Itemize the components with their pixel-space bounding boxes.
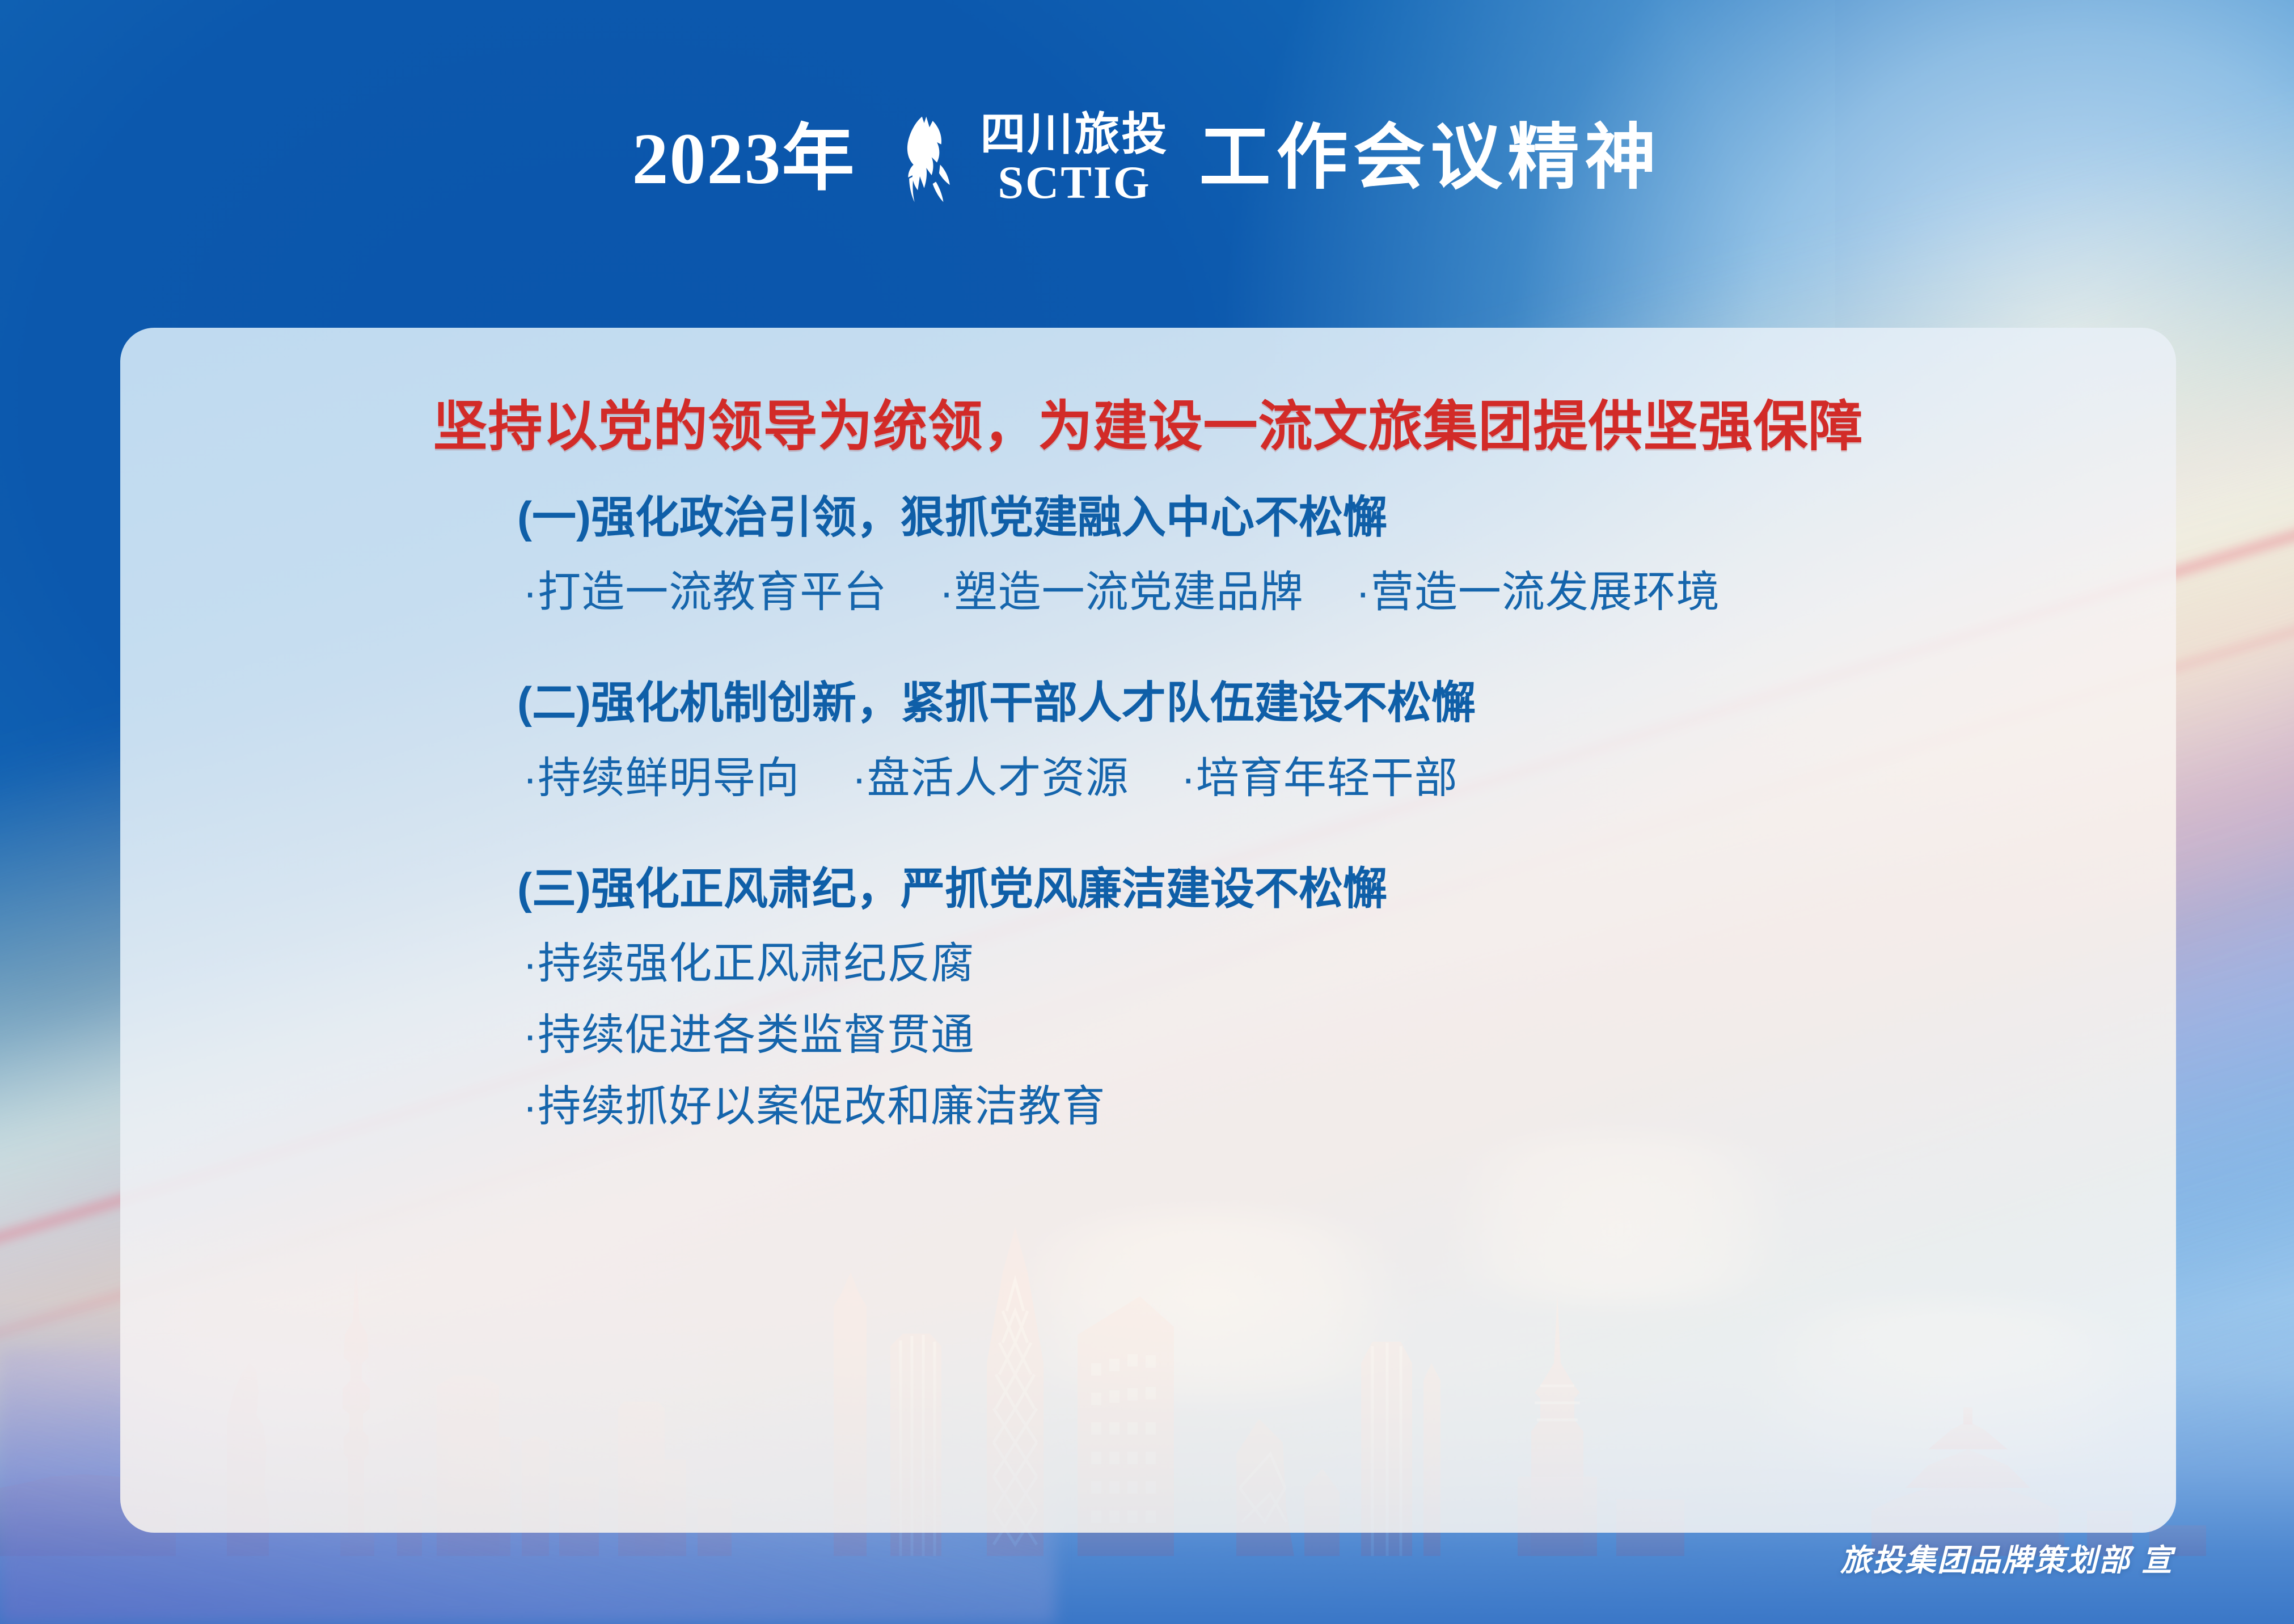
list-item: ·持续抓好以案促改和廉洁教育 [523, 1076, 2176, 1137]
section-three: (三)强化正风肃纪，严抓党风廉洁建设不松懈 ·持续强化正风肃纪反腐 ·持续促进各… [120, 864, 2176, 1137]
content-card-inner: 坚持以党的领导为统领，为建设一流文旅集团提供坚强保障 (一)强化政治引领，狠抓党… [120, 328, 2176, 1533]
list-item: ·盘活人才资源 [852, 748, 1129, 809]
list-item: ·塑造一流党建品牌 [939, 562, 1303, 623]
list-item: ·持续促进各类监督贯通 [523, 1005, 2176, 1066]
list-item: ·持续鲜明导向 [523, 748, 800, 809]
section-one-heading: (一)强化政治引领，狠抓党建融入中心不松懈 [517, 492, 2176, 543]
brand-name-cn: 四川旅投 [981, 112, 1169, 157]
sctig-horse-logo-icon [886, 113, 971, 204]
section-three-heading: (三)强化正风肃纪，严抓党风廉洁建设不松懈 [517, 864, 2176, 915]
sections-list: (一)强化政治引领，狠抓党建融入中心不松懈 ·打造一流教育平台 ·塑造一流党建品… [120, 492, 2176, 1138]
poster-root: 2023年 四川旅投 SCTIG 工作会议精神 坚持以党的领导为统领，为建设一流… [0, 0, 2294, 1624]
poster-header: 2023年 四川旅投 SCTIG 工作会议精神 [0, 0, 2294, 318]
section-one: (一)强化政治引领，狠抓党建融入中心不松懈 ·打造一流教育平台 ·塑造一流党建品… [120, 492, 2176, 624]
list-item: ·培育年轻干部 [1181, 748, 1458, 809]
footer-credit: 旅投集团品牌策划部 宣 [1840, 1535, 2174, 1580]
section-two: (二)强化机制创新，紧抓干部人才队伍建设不松懈 ·持续鲜明导向 ·盘活人才资源 … [120, 678, 2176, 809]
section-two-heading: (二)强化机制创新，紧抓干部人才队伍建设不松懈 [517, 678, 2176, 729]
header-year: 2023年 [632, 122, 856, 195]
section-three-bullets: ·持续强化正风肃纪反腐 ·持续促进各类监督贯通 ·持续抓好以案促改和廉洁教育 [523, 933, 2176, 1137]
list-item: ·营造一流发展环境 [1356, 562, 1720, 623]
header-title: 工作会议精神 [1199, 123, 1662, 194]
list-item: ·打造一流教育平台 [523, 562, 887, 623]
list-item: ·持续强化正风肃纪反腐 [523, 933, 2176, 995]
card-headline: 坚持以党的领导为统领，为建设一流文旅集团提供坚强保障 [120, 397, 2176, 457]
brand-name-en: SCTIG [998, 159, 1151, 206]
brand-logo: 四川旅投 SCTIG [886, 112, 1169, 206]
section-two-bullets: ·持续鲜明导向 ·盘活人才资源 ·培育年轻干部 [523, 748, 2176, 809]
section-one-bullets: ·打造一流教育平台 ·塑造一流党建品牌 ·营造一流发展环境 [523, 562, 2176, 623]
brand-logo-text: 四川旅投 SCTIG [981, 112, 1169, 206]
content-card: 坚持以党的领导为统领，为建设一流文旅集团提供坚强保障 (一)强化政治引领，狠抓党… [120, 328, 2176, 1533]
